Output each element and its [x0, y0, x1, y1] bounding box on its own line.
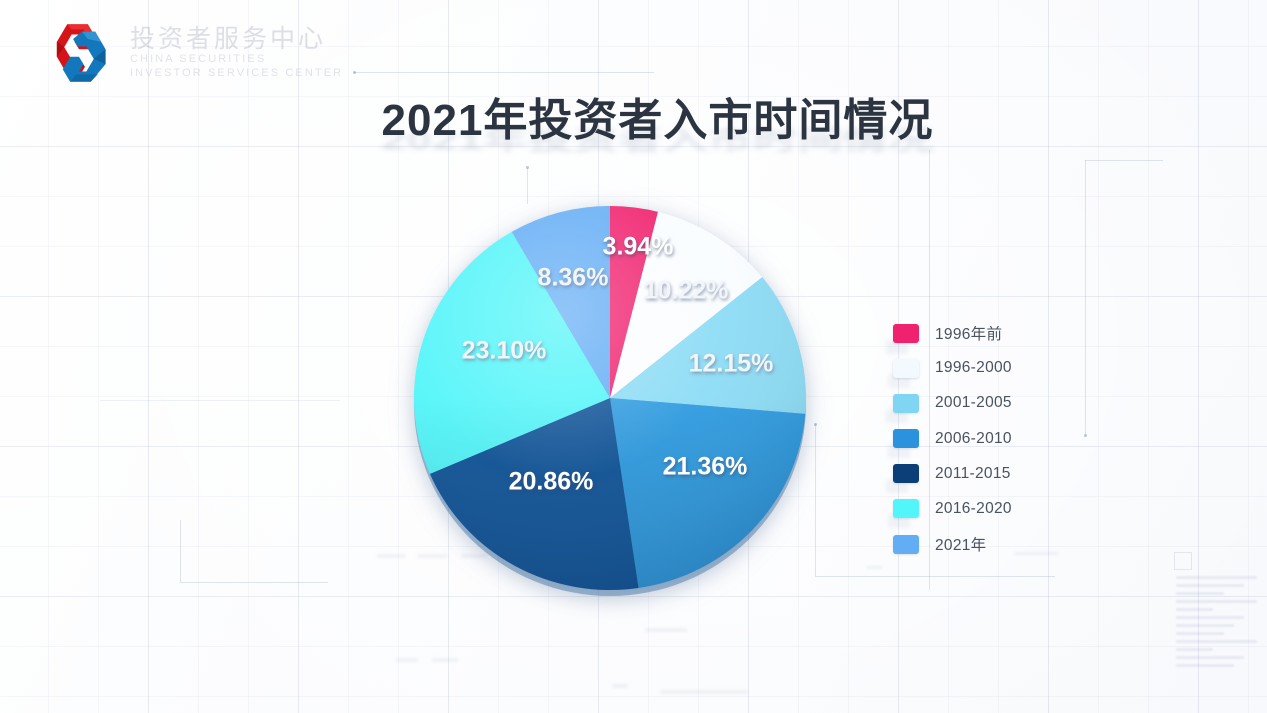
brand-name-en-line1: CHINA SECURITIES [130, 52, 343, 66]
brand-name-en-line2: INVESTOR SERVICES CENTER [130, 66, 343, 80]
page-title: 2021年投资者入市时间情况 [0, 84, 1267, 148]
brand-name-cn: 投资者服务中心 [130, 26, 343, 52]
legend-color-swatch [893, 535, 919, 554]
legend-item[interactable]: 1996年前 [893, 322, 1012, 344]
legend-color-swatch [893, 499, 919, 518]
legend-item-label: 2016-2020 [935, 500, 1012, 518]
pie-chart: 3.94%10.22%12.15%21.36%20.86%23.10%8.36% [409, 196, 809, 600]
brand-text-block: 投资者服务中心 CHINA SECURITIES INVESTOR SERVIC… [130, 26, 343, 80]
legend-color-swatch [893, 464, 919, 483]
blueprint-line [354, 72, 654, 73]
legend-color-swatch [893, 359, 919, 378]
legend-item-label: 2006-2010 [935, 430, 1012, 448]
blueprint-line [1085, 160, 1163, 161]
brand-lockup: 投资者服务中心 CHINA SECURITIES INVESTOR SERVIC… [42, 22, 343, 84]
legend-item-label: 2011-2015 [935, 465, 1011, 483]
blueprint-smudge [866, 566, 882, 569]
blueprint-smudge [660, 690, 748, 694]
blueprint-smudge [377, 554, 405, 558]
blueprint-dot [814, 423, 817, 426]
blueprint-line [180, 520, 181, 582]
chart-legend[interactable]: 1996年前1996-20002001-20052006-20102011-20… [893, 322, 1012, 555]
legend-color-swatch [893, 324, 919, 343]
blueprint-smudge [432, 658, 458, 662]
blueprint-dot [1084, 434, 1087, 437]
legend-item[interactable]: 2006-2010 [893, 428, 1012, 450]
legend-item[interactable]: 1996-2000 [893, 357, 1012, 379]
pie-slices [409, 196, 809, 600]
csisc-logo-icon [42, 22, 116, 84]
legend-item[interactable]: 2001-2005 [893, 392, 1012, 414]
legend-color-swatch [893, 429, 919, 448]
blueprint-dot [526, 166, 529, 169]
slide-canvas: 投资者服务中心 CHINA SECURITIES INVESTOR SERVIC… [0, 0, 1267, 713]
blueprint-smudge [396, 658, 418, 662]
blueprint-line [815, 424, 816, 576]
legend-item-label: 2001-2005 [935, 394, 1012, 412]
legend-item-label: 1996-2000 [935, 359, 1012, 377]
blueprint-line [100, 400, 340, 401]
blueprint-smudge [645, 628, 687, 632]
legend-item-label: 2021年 [935, 533, 986, 555]
blueprint-smudge [612, 684, 628, 688]
blueprint-spec-sheet [1176, 576, 1267, 672]
legend-item-label: 1996年前 [935, 322, 1002, 344]
legend-color-swatch [893, 394, 919, 413]
blueprint-line [815, 576, 1055, 577]
blueprint-line [1085, 160, 1086, 434]
blueprint-line [180, 582, 328, 583]
legend-item[interactable]: 2021年 [893, 533, 1012, 555]
legend-item[interactable]: 2016-2020 [893, 498, 1012, 520]
blueprint-dot [353, 71, 356, 74]
blueprint-smudge [1014, 552, 1058, 555]
blueprint-rect [1174, 552, 1192, 570]
legend-item[interactable]: 2011-2015 [893, 463, 1012, 485]
